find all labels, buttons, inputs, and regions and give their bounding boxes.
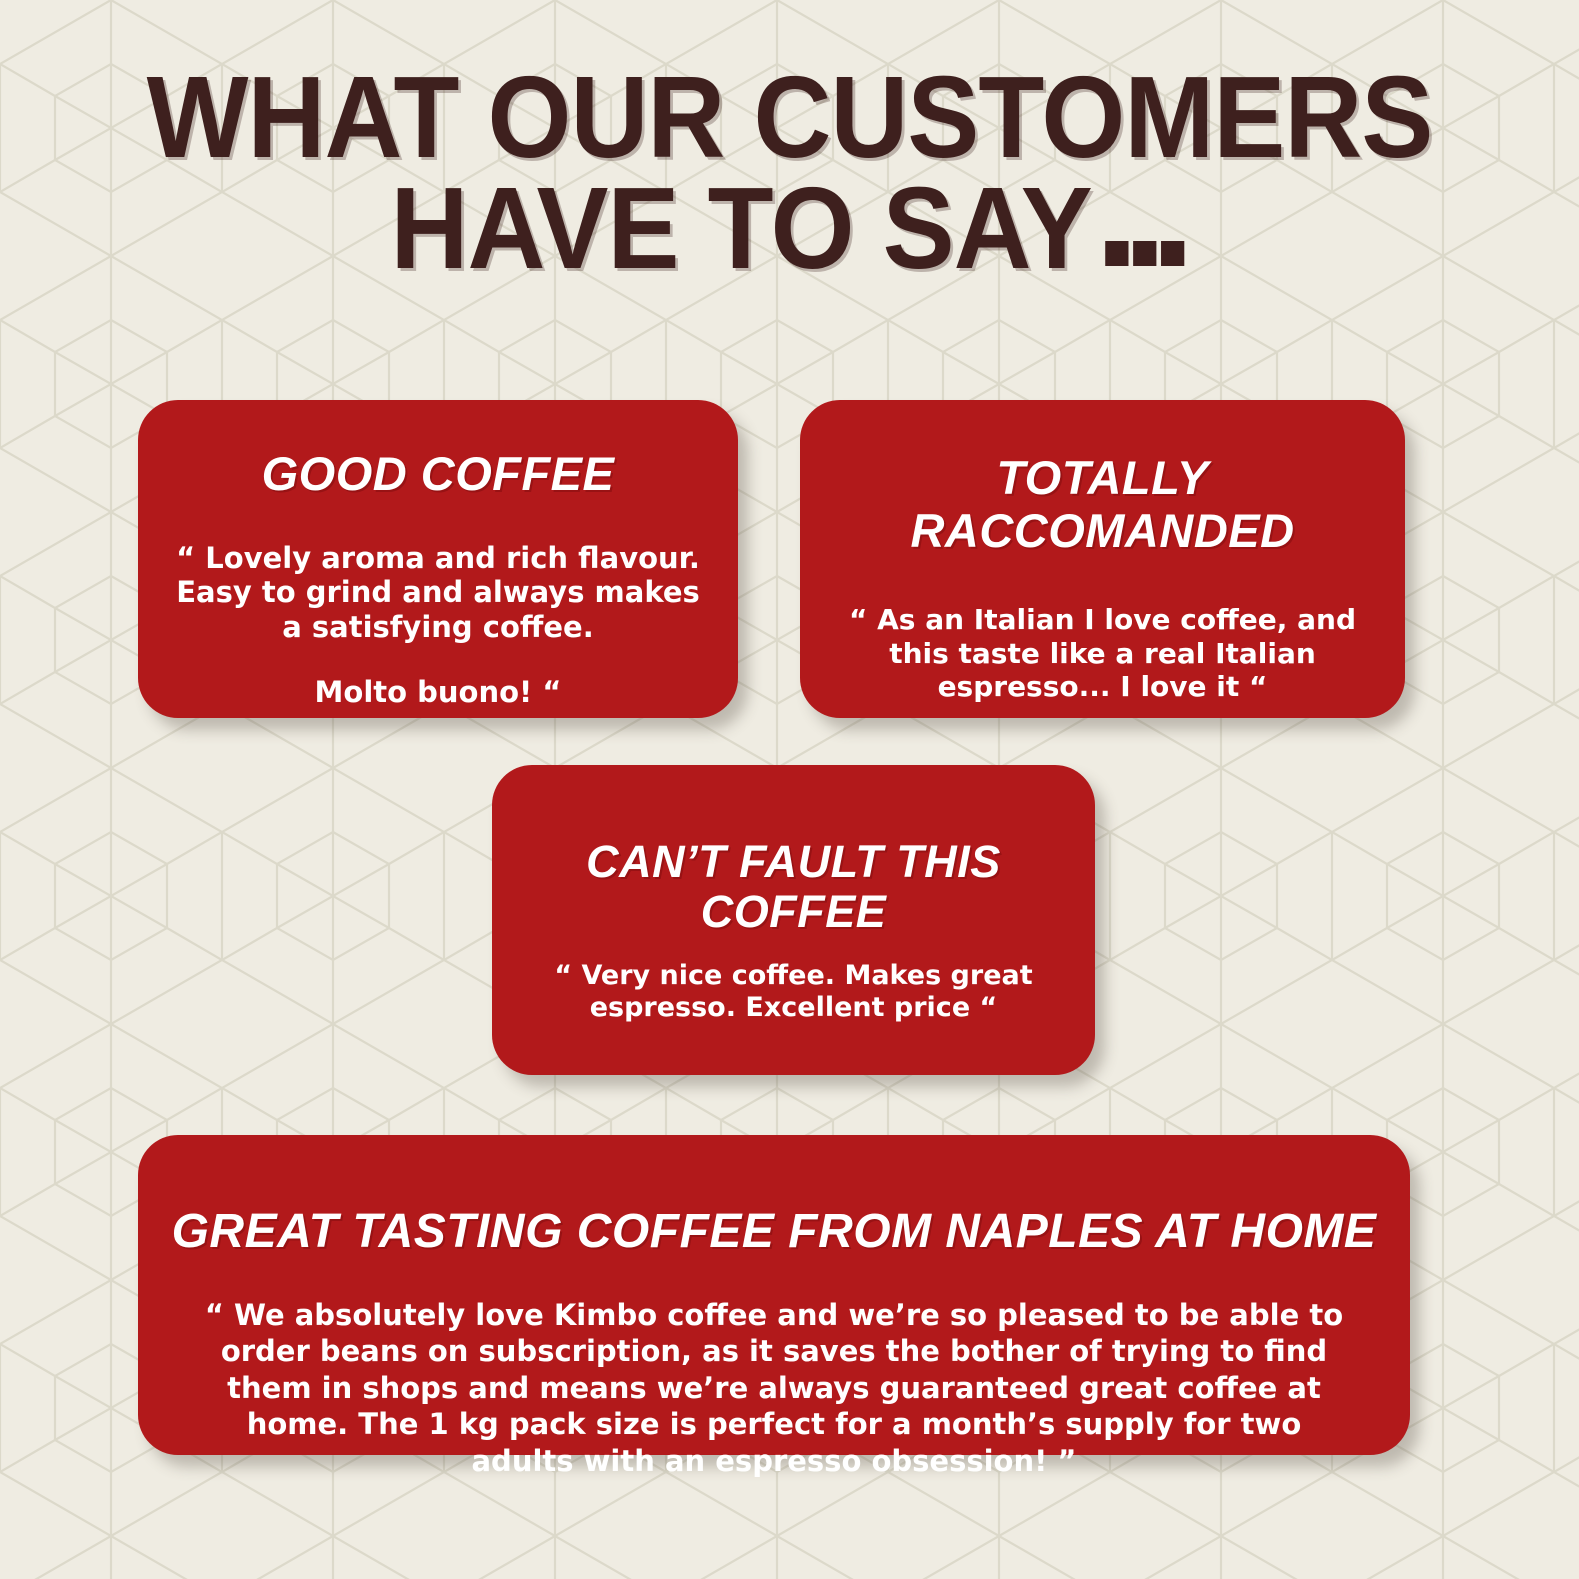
testimonial-card-totally-raccomanded: TOTALLY RACCOMANDED “ As an Italian I lo… — [800, 400, 1405, 718]
testimonial-poster: WHAT OUR CUSTOMERS HAVE TO SAY GOOD COFF… — [0, 0, 1579, 1579]
testimonial-title: GREAT TASTING COFFEE FROM NAPLES AT HOME — [168, 1205, 1380, 1259]
testimonial-card-good-coffee: GOOD COFFEE “ Lovely aroma and rich flav… — [138, 400, 738, 718]
testimonial-quote-paragraph: “ Very nice coffee. Makes great espresso… — [538, 960, 1049, 1025]
page-title: WHAT OUR CUSTOMERS HAVE TO SAY — [55, 62, 1523, 285]
testimonial-quote: “ Lovely aroma and rich flavour. Easy to… — [164, 541, 712, 711]
testimonial-title: TOTALLY RACCOMANDED — [820, 452, 1385, 557]
ellipsis-icon — [1105, 171, 1189, 282]
testimonial-title: CAN’T FAULT THIS COFFEE — [518, 837, 1069, 938]
testimonial-quote: “ As an Italian I love coffee, and this … — [820, 603, 1385, 704]
page-title-line-2: HAVE TO SAY — [55, 173, 1523, 284]
testimonial-quote-paragraph: Molto buono! “ — [170, 675, 706, 710]
testimonial-quote-paragraph: “ As an Italian I love coffee, and this … — [828, 603, 1377, 704]
testimonial-card-great-tasting: GREAT TASTING COFFEE FROM NAPLES AT HOME… — [138, 1135, 1410, 1455]
testimonial-title: GOOD COFFEE — [164, 448, 712, 501]
testimonial-quote: “ Very nice coffee. Makes great espresso… — [518, 960, 1069, 1025]
testimonial-quote: “ We absolutely love Kimbo coffee and we… — [168, 1297, 1380, 1480]
testimonial-quote-paragraph: “ We absolutely love Kimbo coffee and we… — [204, 1297, 1344, 1480]
page-title-line-1: WHAT OUR CUSTOMERS — [55, 62, 1523, 173]
testimonial-quote-paragraph: “ Lovely aroma and rich flavour. Easy to… — [170, 541, 706, 645]
page-title-line-2-text: HAVE TO SAY — [391, 163, 1092, 293]
testimonial-card-cant-fault: CAN’T FAULT THIS COFFEE “ Very nice coff… — [492, 765, 1095, 1075]
